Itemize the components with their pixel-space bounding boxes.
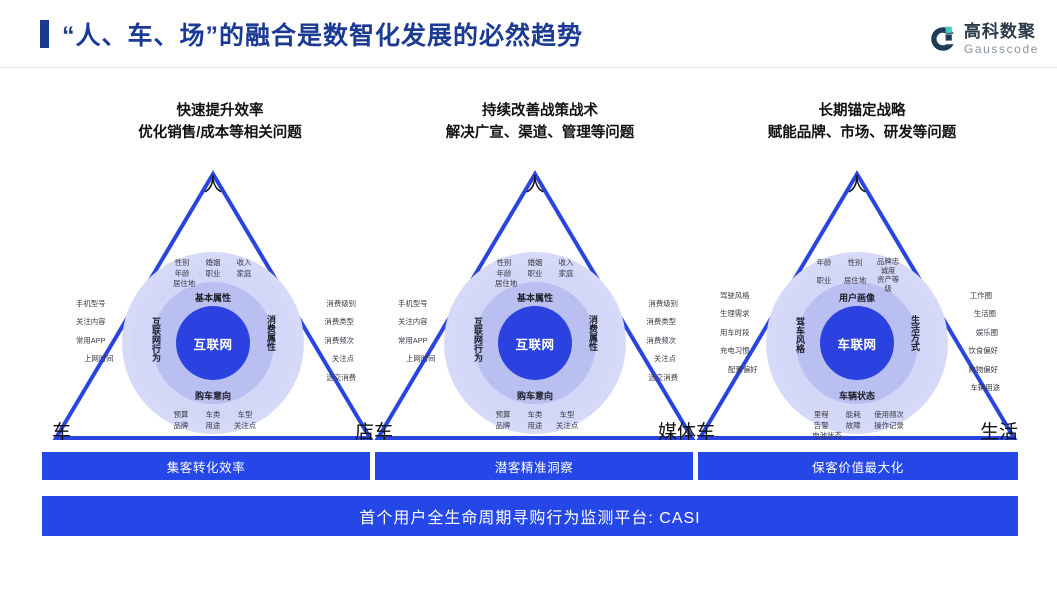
right-list-3: 工作圈 生活圈 娱乐圈 饮食偏好 购物偏好 车辆用途 bbox=[968, 292, 998, 402]
left-list-item: 手机型号 bbox=[398, 300, 436, 307]
left-list-1: 手机型号 关注内容 常用APP 上网时间 bbox=[76, 300, 114, 374]
micro-item: 家庭 bbox=[233, 269, 255, 280]
micro-item: 居住地 bbox=[495, 279, 517, 290]
column-heading-1-line1: 快速提升效率 bbox=[55, 100, 385, 122]
triangle-1-bottom-left-label: 车 bbox=[52, 423, 71, 442]
left-list-item: 上网时间 bbox=[76, 355, 114, 362]
ring-left-label-2: 互联网行为 bbox=[473, 317, 482, 362]
micro-item: 职业 bbox=[813, 276, 835, 294]
column-heading-3-line1: 长期锚定战略 bbox=[697, 100, 1027, 122]
bottom-banner: 首个用户全生命周期寻购行为监测平台: CASI bbox=[42, 496, 1018, 536]
strip-label-2: 潜客精准洞察 bbox=[375, 452, 693, 480]
micro-top-group-1: 性别婚姻收入 年龄职业家庭 居住地 bbox=[171, 258, 255, 290]
page-title: “人、车、场”的融合是数智化发展的必然趋势 bbox=[62, 16, 583, 52]
column-heading-1: 快速提升效率 优化销售/成本等相关问题 bbox=[55, 100, 385, 145]
micro-item: 性别 bbox=[493, 258, 515, 269]
left-list-item: 常用APP bbox=[76, 337, 114, 344]
right-list-item: 选交消费 bbox=[324, 374, 356, 381]
micro-item: 车型 bbox=[234, 410, 256, 421]
micro-item: 车型 bbox=[556, 410, 578, 421]
right-list-item: 饮食偏好 bbox=[968, 347, 998, 354]
triangle-2-bottom-left-label: 车 bbox=[374, 423, 393, 442]
triangle-3-bottom-left-label: 车 bbox=[696, 423, 715, 442]
micro-item: 关注点 bbox=[234, 421, 256, 432]
right-list-item: 选交消费 bbox=[646, 374, 678, 381]
left-list-item: 手机型号 bbox=[76, 300, 114, 307]
micro-item: 用途 bbox=[202, 421, 224, 432]
micro-item: 能耗 bbox=[842, 410, 864, 421]
micro-item: 性别 bbox=[171, 258, 193, 269]
micro-item: 用途 bbox=[524, 421, 546, 432]
micro-item: 关注点 bbox=[556, 421, 578, 432]
triangle-3-apex-label: 人 bbox=[847, 176, 866, 195]
strip-label-1: 集客转化效率 bbox=[42, 452, 370, 480]
brand-logo: 高科数聚 Gausscode bbox=[929, 19, 1039, 59]
ring-right-label-2: 消费属性 bbox=[588, 315, 597, 351]
micro-item: 品牌 bbox=[170, 421, 192, 432]
gausscode-logo-icon bbox=[929, 25, 957, 53]
left-list-2: 手机型号 关注内容 常用APP 上网时间 bbox=[398, 300, 436, 374]
micro-item: 职业 bbox=[524, 269, 546, 280]
triangle-3-bottom-right-label: 生活 bbox=[980, 423, 1018, 442]
column-heading-3-line2: 赋能品牌、市场、研发等问题 bbox=[697, 122, 1027, 144]
column-heading-2-line2: 解决广宣、渠道、管理等问题 bbox=[375, 122, 705, 144]
micro-top-group-3: 年龄性别品牌忠诚度 职业居住地资产等级 bbox=[813, 258, 901, 294]
ring-bottom-label-2: 购车意向 bbox=[517, 389, 553, 402]
micro-item: 车类 bbox=[202, 410, 224, 421]
micro-item: 居住地 bbox=[844, 276, 866, 294]
micro-item: 车类 bbox=[524, 410, 546, 421]
right-list-item: 关注点 bbox=[324, 355, 354, 362]
left-list-3: 驾驶风格 生理需求 用车时段 充电习惯 配置偏好 bbox=[720, 292, 758, 384]
right-list-item: 消费类型 bbox=[646, 318, 676, 325]
ring-left-label-3: 驾车风格 bbox=[795, 317, 804, 353]
triangle-2-bottom-right-label: 媒体 bbox=[658, 423, 696, 442]
column-heading-2-line1: 持续改善战策战术 bbox=[375, 100, 705, 122]
micro-item: 使用频次 bbox=[874, 410, 904, 421]
ring-core-1: 互联网 bbox=[176, 306, 250, 380]
header-divider bbox=[0, 67, 1057, 68]
left-list-item: 上网时间 bbox=[398, 355, 436, 362]
strip-label-3: 保客价值最大化 bbox=[698, 452, 1018, 480]
micro-item: 操作记录 bbox=[874, 421, 904, 432]
right-list-item: 消费级别 bbox=[324, 300, 356, 307]
right-list-item: 关注点 bbox=[646, 355, 676, 362]
right-list-item: 消费频次 bbox=[324, 337, 354, 344]
title-accent-bar bbox=[40, 20, 49, 48]
ring-right-label-1: 消费属性 bbox=[266, 315, 275, 351]
micro-item: 收入 bbox=[233, 258, 255, 269]
micro-item: 告警 bbox=[810, 421, 832, 432]
micro-item: 品牌忠诚度 bbox=[875, 258, 901, 276]
core-label-3: 车联网 bbox=[837, 334, 876, 353]
micro-item: 里程 bbox=[810, 410, 832, 421]
micro-item: 家庭 bbox=[555, 269, 577, 280]
left-list-item: 关注内容 bbox=[76, 318, 114, 325]
micro-bottom-group-2: 预算车类车型 品牌用途关注点 bbox=[492, 410, 578, 431]
right-list-2: 消费级别 消费类型 消费频次 关注点 选交消费 bbox=[646, 300, 676, 392]
slide-root: “人、车、场”的融合是数智化发展的必然趋势 高科数聚 Gausscode 快速提… bbox=[0, 0, 1057, 589]
triangle-panel-1: 人 车 店 互联网 互联网 基本属性 购车意向 互联网行为 消费属性 性别婚姻收… bbox=[48, 160, 378, 448]
column-heading-1-line2: 优化销售/成本等相关问题 bbox=[55, 122, 385, 144]
triangle-1-apex-label: 人 bbox=[203, 176, 222, 195]
micro-item: 预算 bbox=[492, 410, 514, 421]
micro-item: 婚姻 bbox=[524, 258, 546, 269]
right-list-item: 消费级别 bbox=[646, 300, 678, 307]
brand-name-cn: 高科数聚 bbox=[964, 23, 1039, 40]
left-list-item: 用车时段 bbox=[720, 329, 758, 336]
micro-item: 年龄 bbox=[171, 269, 193, 280]
triangle-2-apex-label: 人 bbox=[525, 176, 544, 195]
left-list-item: 驾驶风格 bbox=[720, 292, 758, 299]
ring-top-label-2: 基本属性 bbox=[517, 291, 553, 304]
left-list-item: 常用APP bbox=[398, 337, 436, 344]
ring-core-3: 车联网 bbox=[820, 306, 894, 380]
ring-right-label-3: 生活方式 bbox=[910, 315, 919, 351]
micro-item: 婚姻 bbox=[202, 258, 224, 269]
micro-bottom-group-3: 里程能耗使用频次 告警故障操作记录 电池状态 bbox=[810, 410, 904, 442]
ring-bottom-label-1: 购车意向 bbox=[195, 389, 231, 402]
column-heading-2: 持续改善战策战术 解决广宣、渠道、管理等问题 bbox=[375, 100, 705, 145]
micro-item: 资产等级 bbox=[875, 276, 901, 294]
ring-left-label-1: 互联网行为 bbox=[151, 317, 160, 362]
right-list-1: 消费级别 消费类型 消费频次 关注点 选交消费 bbox=[324, 300, 354, 392]
triangle-panel-3: 人 车 生活 车联网 车联网 用户画像 车辆状态 驾车风格 生活方式 年龄性别品… bbox=[692, 160, 1022, 448]
right-list-item: 工作圈 bbox=[968, 292, 992, 299]
micro-item: 性别 bbox=[844, 258, 866, 276]
left-list-item: 配置偏好 bbox=[720, 366, 758, 373]
brand-name-en: Gausscode bbox=[964, 43, 1039, 55]
micro-item: 预算 bbox=[170, 410, 192, 421]
right-list-item: 生活圈 bbox=[968, 310, 996, 317]
micro-top-group-2: 性别婚姻收入 年龄职业家庭 居住地 bbox=[493, 258, 577, 290]
left-list-item: 充电习惯 bbox=[720, 347, 758, 354]
micro-item: 年龄 bbox=[813, 258, 835, 276]
right-list-item: 消费类型 bbox=[324, 318, 354, 325]
right-list-item: 购物偏好 bbox=[968, 366, 998, 373]
slide-header: “人、车、场”的融合是数智化发展的必然趋势 高科数聚 Gausscode bbox=[0, 0, 1057, 68]
micro-bottom-group-1: 预算车类车型 品牌用途关注点 bbox=[170, 410, 256, 431]
micro-item: 电池状态 bbox=[812, 431, 842, 442]
micro-item: 职业 bbox=[202, 269, 224, 280]
micro-item: 年龄 bbox=[493, 269, 515, 280]
right-list-item: 娱乐圈 bbox=[968, 329, 998, 336]
micro-item: 故障 bbox=[842, 421, 864, 432]
micro-item: 居住地 bbox=[173, 279, 195, 290]
column-heading-3: 长期锚定战略 赋能品牌、市场、研发等问题 bbox=[697, 100, 1027, 145]
left-list-item: 生理需求 bbox=[720, 310, 758, 317]
right-list-item: 车辆用途 bbox=[968, 384, 1000, 391]
brand-logo-text: 高科数聚 Gausscode bbox=[964, 23, 1039, 55]
triangle-panel-2: 人 车 媒体 互联网 互联网 基本属性 购车意向 互联网行为 消费属性 性别婚姻… bbox=[370, 160, 700, 448]
ring-bottom-label-3: 车辆状态 bbox=[839, 389, 875, 402]
right-list-item: 消费频次 bbox=[646, 337, 676, 344]
left-list-item: 关注内容 bbox=[398, 318, 436, 325]
ring-top-label-1: 基本属性 bbox=[195, 291, 231, 304]
micro-item: 收入 bbox=[555, 258, 577, 269]
micro-item: 品牌 bbox=[492, 421, 514, 432]
core-label-2: 互联网 bbox=[515, 334, 554, 353]
ring-core-2: 互联网 bbox=[498, 306, 572, 380]
core-label-1: 互联网 bbox=[193, 334, 232, 353]
